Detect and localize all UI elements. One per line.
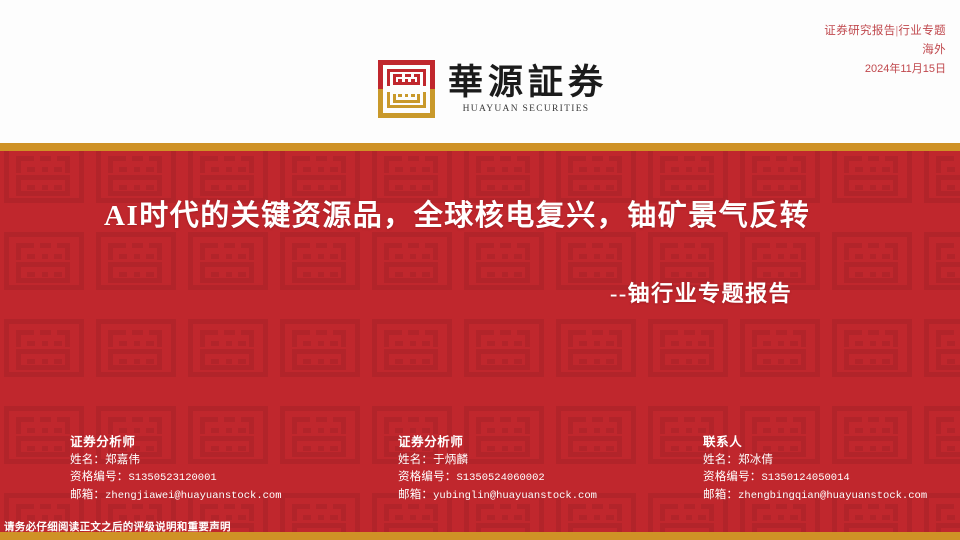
analyst-name-value: 郑嘉伟 (105, 454, 140, 466)
analyst-license-label: 资格编号： (70, 471, 129, 483)
analyst-name-row: 姓名：郑冰倩 (703, 452, 960, 469)
analyst-block-3: 联系人 姓名：郑冰倩 资格编号：S1350124050014 邮箱：zhengb… (703, 433, 960, 505)
report-cover-slide: 证券研究报告|行业专题 海外 2024年11月15日 (0, 0, 960, 540)
logo-name-cn: 華源証券 (448, 64, 608, 102)
analyst-email-value[interactable]: zhengbingqian@huayuanstock.com (738, 490, 927, 502)
analyst-name-value: 于炳麟 (433, 454, 468, 466)
analyst-license-value: S1350523120001 (129, 472, 217, 484)
page-title: AI时代的关键资源品，全球核电复兴，铀矿景气反转 (104, 192, 810, 234)
report-date-label: 2024年11月15日 (824, 60, 946, 79)
analyst-license-row: 资格编号：S1350523120001 (70, 469, 390, 487)
analyst-license-row: 资格编号：S1350524060002 (398, 469, 698, 487)
analyst-name-label: 姓名： (398, 454, 433, 466)
analyst-license-label: 资格编号： (703, 471, 762, 483)
analyst-email-value[interactable]: yubinglin@huayuanstock.com (433, 490, 597, 502)
header-meta-block: 证券研究报告|行业专题 海外 2024年11月15日 (824, 22, 946, 79)
report-region-label: 海外 (824, 41, 946, 60)
company-logo: 華源証券 HUAYUAN SECURITIES (378, 60, 608, 118)
analyst-email-label: 邮箱： (70, 489, 105, 501)
slide-body: AI时代的关键资源品，全球核电复兴，铀矿景气反转 --铀行业专题报告 证券分析师… (0, 151, 960, 532)
analyst-email-row: 邮箱：zhengbingqian@huayuanstock.com (703, 487, 960, 505)
analyst-role-label: 证券分析师 (398, 433, 698, 451)
analyst-email-row: 邮箱：yubinglin@huayuanstock.com (398, 487, 698, 505)
analyst-name-value: 郑冰倩 (738, 454, 773, 466)
analyst-name-label: 姓名： (70, 454, 105, 466)
analyst-block-1: 证券分析师 姓名：郑嘉伟 资格编号：S1350523120001 邮箱：zhen… (70, 433, 390, 505)
contact-role-label: 联系人 (703, 433, 960, 451)
analyst-email-label: 邮箱： (398, 489, 433, 501)
analyst-name-row: 姓名：郑嘉伟 (70, 452, 390, 469)
analyst-name-label: 姓名： (703, 454, 738, 466)
report-category-label: 证券研究报告|行业专题 (824, 22, 946, 41)
huayuan-seal-icon (378, 60, 435, 118)
logo-text-block: 華源証券 HUAYUAN SECURITIES (448, 62, 608, 116)
analyst-block-2: 证券分析师 姓名：于炳麟 资格编号：S1350524060002 邮箱：yubi… (398, 433, 698, 505)
analyst-name-row: 姓名：于炳麟 (398, 452, 698, 469)
analyst-email-row: 邮箱：zhengjiawei@huayuanstock.com (70, 487, 390, 505)
disclaimer-text: 请务必仔细阅读正文之后的评级说明和重要声明 (4, 519, 231, 534)
analyst-license-value: S1350124050014 (762, 472, 850, 484)
gold-divider-top (0, 143, 960, 151)
analyst-info-group: 证券分析师 姓名：郑嘉伟 资格编号：S1350523120001 邮箱：zhen… (0, 433, 960, 513)
analyst-role-label: 证券分析师 (70, 433, 390, 451)
analyst-license-row: 资格编号：S1350124050014 (703, 469, 960, 487)
analyst-license-value: S1350524060002 (457, 472, 545, 484)
analyst-license-label: 资格编号： (398, 471, 457, 483)
logo-name-en: HUAYUAN SECURITIES (448, 102, 608, 116)
analyst-email-label: 邮箱： (703, 489, 738, 501)
slide-header: 证券研究报告|行业专题 海外 2024年11月15日 (0, 0, 960, 143)
page-subtitle: --铀行业专题报告 (610, 276, 792, 308)
analyst-email-value[interactable]: zhengjiawei@huayuanstock.com (105, 490, 281, 502)
